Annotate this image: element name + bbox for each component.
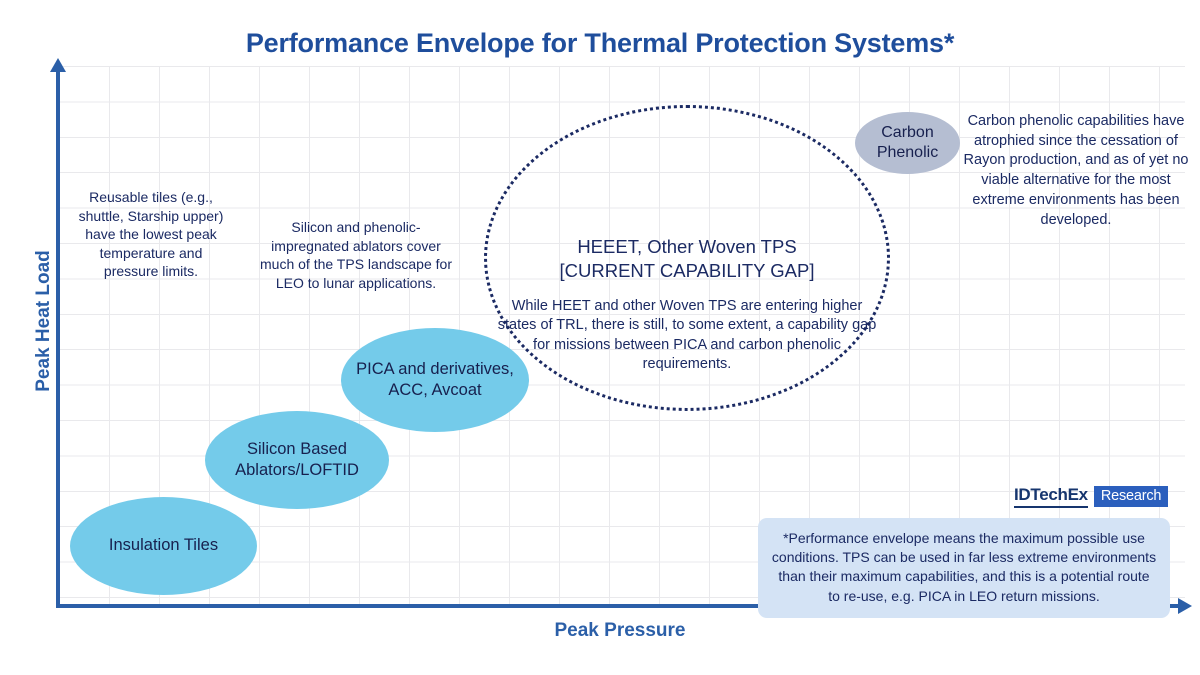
- idtechex-logo: IDTechEx Research: [1014, 485, 1168, 508]
- bubble-silicon-based-ablators[interactable]: Silicon Based Ablators/LOFTID: [205, 411, 389, 509]
- page-title: Performance Envelope for Thermal Protect…: [0, 28, 1200, 59]
- chart-canvas: Performance Envelope for Thermal Protect…: [0, 0, 1200, 675]
- capability-gap-heading-line-2: [CURRENT CAPABILITY GAP]: [496, 259, 878, 283]
- x-axis-arrow-icon: [1178, 598, 1192, 614]
- y-axis-line: [56, 70, 60, 606]
- annotation-reusable-tiles: Reusable tiles (e.g., shuttle, Starship …: [72, 188, 230, 281]
- bubble-label: Insulation Tiles: [109, 535, 218, 556]
- capability-gap-heading: HEEET, Other Woven TPS [CURRENT CAPABILI…: [496, 235, 878, 283]
- capability-gap-body: While HEET and other Woven TPS are enter…: [496, 297, 878, 374]
- bubble-insulation-tiles[interactable]: Insulation Tiles: [70, 497, 257, 595]
- bubble-label: Carbon Phenolic: [855, 123, 960, 164]
- logo-research-badge: Research: [1094, 486, 1168, 507]
- capability-gap-text-block: HEEET, Other Woven TPS [CURRENT CAPABILI…: [496, 235, 878, 374]
- y-axis-label: Peak Heat Load: [33, 211, 55, 431]
- annotation-carbon-phenolic: Carbon phenolic capabilities have atroph…: [960, 112, 1192, 230]
- annotation-silicon-ablators: Silicon and phenolic-impregnated ablator…: [258, 218, 454, 292]
- y-axis-arrow-icon: [50, 58, 66, 72]
- capability-gap-heading-line-1: HEEET, Other Woven TPS: [496, 235, 878, 259]
- bubble-label: Silicon Based Ablators/LOFTID: [205, 439, 389, 481]
- logo-wordmark: IDTechEx: [1014, 485, 1088, 508]
- footnote-box: *Performance envelope means the maximum …: [758, 518, 1170, 618]
- x-axis-label: Peak Pressure: [400, 620, 840, 642]
- bubble-carbon-phenolic[interactable]: Carbon Phenolic: [855, 112, 960, 174]
